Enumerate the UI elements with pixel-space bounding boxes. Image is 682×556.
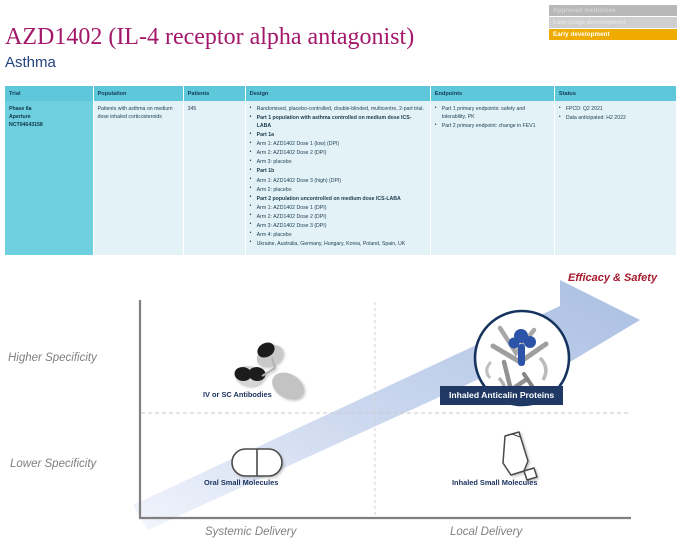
efficacy-safety-label: Efficacy & Safety xyxy=(568,272,657,284)
list-item: Part 1a xyxy=(250,131,426,139)
status-bullet-list: FPCD: Q2 2021 Data anticipated: H2 2022 xyxy=(559,105,672,122)
quadrant-label-oral-small-molecules: Oral Small Molecules xyxy=(204,478,278,487)
endpoints-bullet-list: Part 1 primary endpoints: safety and tol… xyxy=(435,105,550,130)
legend-item-approved-medicines[interactable]: Approved medicines xyxy=(549,5,677,16)
list-item: Part 1 population with asthma controlled… xyxy=(250,114,426,130)
column-header-trial: Trial xyxy=(5,86,93,101)
y-axis-label-higher-specificity: Higher Specificity xyxy=(8,352,97,364)
capsule-icon xyxy=(232,449,282,476)
trial-summary-table: Trial Population Patients Design Endpoin… xyxy=(5,86,677,255)
trial-phase: Phase IIa xyxy=(9,105,89,113)
list-item: Arm 1: AZD1402 Dose 3 (high) (DPI) xyxy=(250,177,426,185)
column-header-population: Population xyxy=(93,86,183,101)
list-item: Arm 4: placebo xyxy=(250,231,426,239)
inhaler-icon xyxy=(503,432,537,480)
table-row: Phase IIa Aperture NCT04643158 Patients … xyxy=(5,101,677,255)
list-item: Arm 2: AZD1402 Dose 2 (DPI) xyxy=(250,213,426,221)
x-axis-label-systemic-delivery: Systemic Delivery xyxy=(205,526,296,538)
list-item: Arm 2: placebo xyxy=(250,186,426,194)
page-subtitle: Asthma xyxy=(5,54,56,71)
cell-population: Patients with asthma on medium dose inha… xyxy=(93,101,183,255)
page-title: AZD1402 (IL-4 receptor alpha antagonist) xyxy=(5,24,414,51)
cell-endpoints: Part 1 primary endpoints: safety and tol… xyxy=(430,101,554,255)
list-item: Part 2 population uncontrolled on medium… xyxy=(250,195,426,203)
list-item: Arm 3: AZD1402 Dose 3 (DPI) xyxy=(250,222,426,230)
quadrant-label-inhaled-anticalin-proteins: Inhaled Anticalin Proteins xyxy=(440,386,563,405)
quadrant-label-iv-or-sc-antibodies: IV or SC Antibodies xyxy=(203,390,272,399)
column-header-patients: Patients xyxy=(183,86,245,101)
x-axis-label-local-delivery: Local Delivery xyxy=(450,526,522,538)
list-item: Part 2 primary endpoint: change in FEV1 xyxy=(435,122,550,130)
column-header-status: Status xyxy=(554,86,676,101)
cell-design: Randomised, placebo-controlled, double-b… xyxy=(245,101,430,255)
efficacy-safety-arrow xyxy=(133,280,640,530)
legend-item-late-stage-development[interactable]: Late-stage development xyxy=(549,17,677,28)
development-stage-legend: Approved medicines Late-stage developmen… xyxy=(549,5,677,41)
y-axis-label-lower-specificity: Lower Specificity xyxy=(10,458,96,470)
table-header-row: Trial Population Patients Design Endpoin… xyxy=(5,86,677,101)
column-header-design: Design xyxy=(245,86,430,101)
design-bullet-list: Randomised, placebo-controlled, double-b… xyxy=(250,105,426,248)
list-item: Arm 2: AZD1402 Dose 2 (DPI) xyxy=(250,149,426,157)
cell-patients: 345 xyxy=(183,101,245,255)
cell-trial: Phase IIa Aperture NCT04643158 xyxy=(5,101,93,255)
list-item: Part 1b xyxy=(250,167,426,175)
positioning-quadrant-diagram xyxy=(0,258,682,556)
list-item: Randomised, placebo-controlled, double-b… xyxy=(250,105,426,113)
trial-name: Aperture xyxy=(9,113,89,121)
column-header-endpoints: Endpoints xyxy=(430,86,554,101)
list-item: Part 1 primary endpoints: safety and tol… xyxy=(435,105,550,121)
list-item: Arm 3: placebo xyxy=(250,158,426,166)
list-item: Data anticipated: H2 2022 xyxy=(559,114,672,122)
list-item: Arm 1: AZD1402 Dose 1 (low) (DPI) xyxy=(250,140,426,148)
legend-item-early-development[interactable]: Early development xyxy=(549,29,677,40)
list-item: Ukraine, Australia, Germany, Hungary, Ko… xyxy=(250,240,426,248)
list-item: Arm 1: AZD1402 Dose 1 (DPI) xyxy=(250,204,426,212)
quadrant-label-inhaled-small-molecules: Inhaled Small Molecules xyxy=(452,478,537,487)
list-item: FPCD: Q2 2021 xyxy=(559,105,672,113)
trial-nct-id: NCT04643158 xyxy=(9,121,89,129)
cell-status: FPCD: Q2 2021 Data anticipated: H2 2022 xyxy=(554,101,676,255)
